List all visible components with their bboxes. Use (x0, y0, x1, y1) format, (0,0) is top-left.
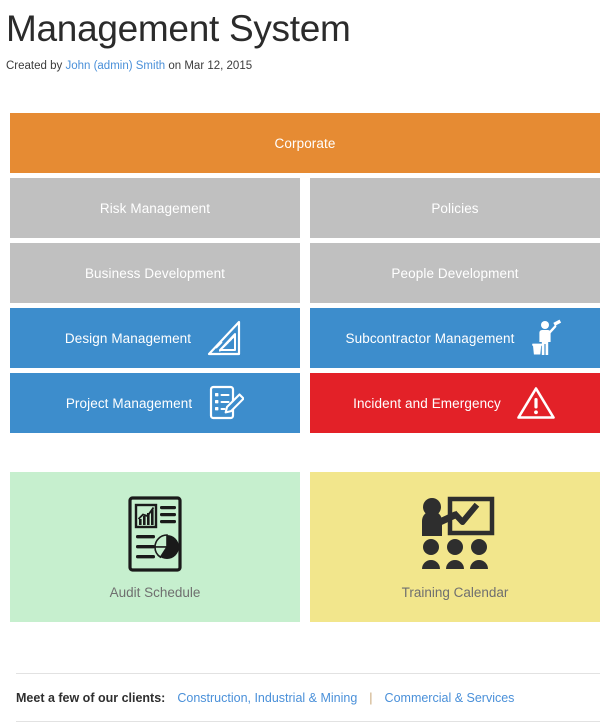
tile-business-development[interactable]: Business Development (10, 243, 300, 303)
page-header: Management System Created by John (admin… (0, 0, 615, 73)
tile-label: Business Development (85, 266, 225, 281)
tile-row: Design Management (10, 308, 600, 368)
feature-tile-label: Training Calendar (402, 585, 509, 600)
set-square-ruler-icon (205, 318, 245, 358)
tile-label: Policies (431, 201, 478, 216)
management-system-page: Management System Created by John (admin… (0, 0, 615, 722)
tile-label: People Development (391, 266, 518, 281)
tile-row: Risk Management Policies (10, 178, 600, 238)
tile-subcontractor-management[interactable]: Subcontractor Management (310, 308, 600, 368)
page-footer: Meet a few of our clients: Construction,… (0, 673, 615, 722)
tile-corporate[interactable]: Corporate (10, 113, 600, 173)
byline-prefix: Created by (6, 60, 65, 72)
clients-bar: Meet a few of our clients: Construction,… (16, 674, 600, 721)
feature-tile-training-calendar[interactable]: Training Calendar (310, 472, 600, 622)
byline-suffix: on Mar 12, 2015 (165, 60, 252, 72)
warning-triangle-icon (515, 384, 557, 422)
tile-label: Corporate (275, 136, 336, 151)
tile-project-management[interactable]: Project Management (10, 373, 300, 433)
tile-row: Corporate (10, 113, 600, 173)
feature-tile-row: Audit Schedule (0, 472, 615, 622)
clients-label: Meet a few of our clients: (16, 691, 165, 705)
report-chart-document-icon (122, 495, 188, 573)
tile-risk-management[interactable]: Risk Management (10, 178, 300, 238)
tile-row: Project Management (10, 373, 600, 433)
feature-tile-label: Audit Schedule (110, 585, 201, 600)
tile-label: Incident and Emergency (353, 396, 501, 411)
feature-tile-audit-schedule[interactable]: Audit Schedule (10, 472, 300, 622)
tile-policies[interactable]: Policies (310, 178, 600, 238)
tile-label: Risk Management (100, 201, 210, 216)
painter-worker-icon (529, 317, 565, 359)
clipboard-pencil-icon (206, 383, 244, 423)
tile-people-development[interactable]: People Development (310, 243, 600, 303)
tile-label: Subcontractor Management (346, 331, 515, 346)
tile-label: Design Management (65, 331, 191, 346)
client-link-separator: | (369, 691, 372, 705)
client-link-commercial[interactable]: Commercial & Services (385, 691, 515, 705)
tile-label: Project Management (66, 396, 192, 411)
tile-row: Business Development People Development (10, 243, 600, 303)
tile-incident-and-emergency[interactable]: Incident and Emergency (310, 373, 600, 433)
byline: Created by John (admin) Smith on Mar 12,… (6, 59, 605, 73)
classroom-presentation-icon (414, 495, 496, 573)
tile-grid: Corporate Risk Management Policies Busin… (0, 113, 615, 433)
client-link-construction[interactable]: Construction, Industrial & Mining (177, 691, 357, 705)
page-title: Management System (6, 2, 605, 52)
byline-author-link[interactable]: John (admin) Smith (65, 60, 165, 72)
tile-design-management[interactable]: Design Management (10, 308, 300, 368)
